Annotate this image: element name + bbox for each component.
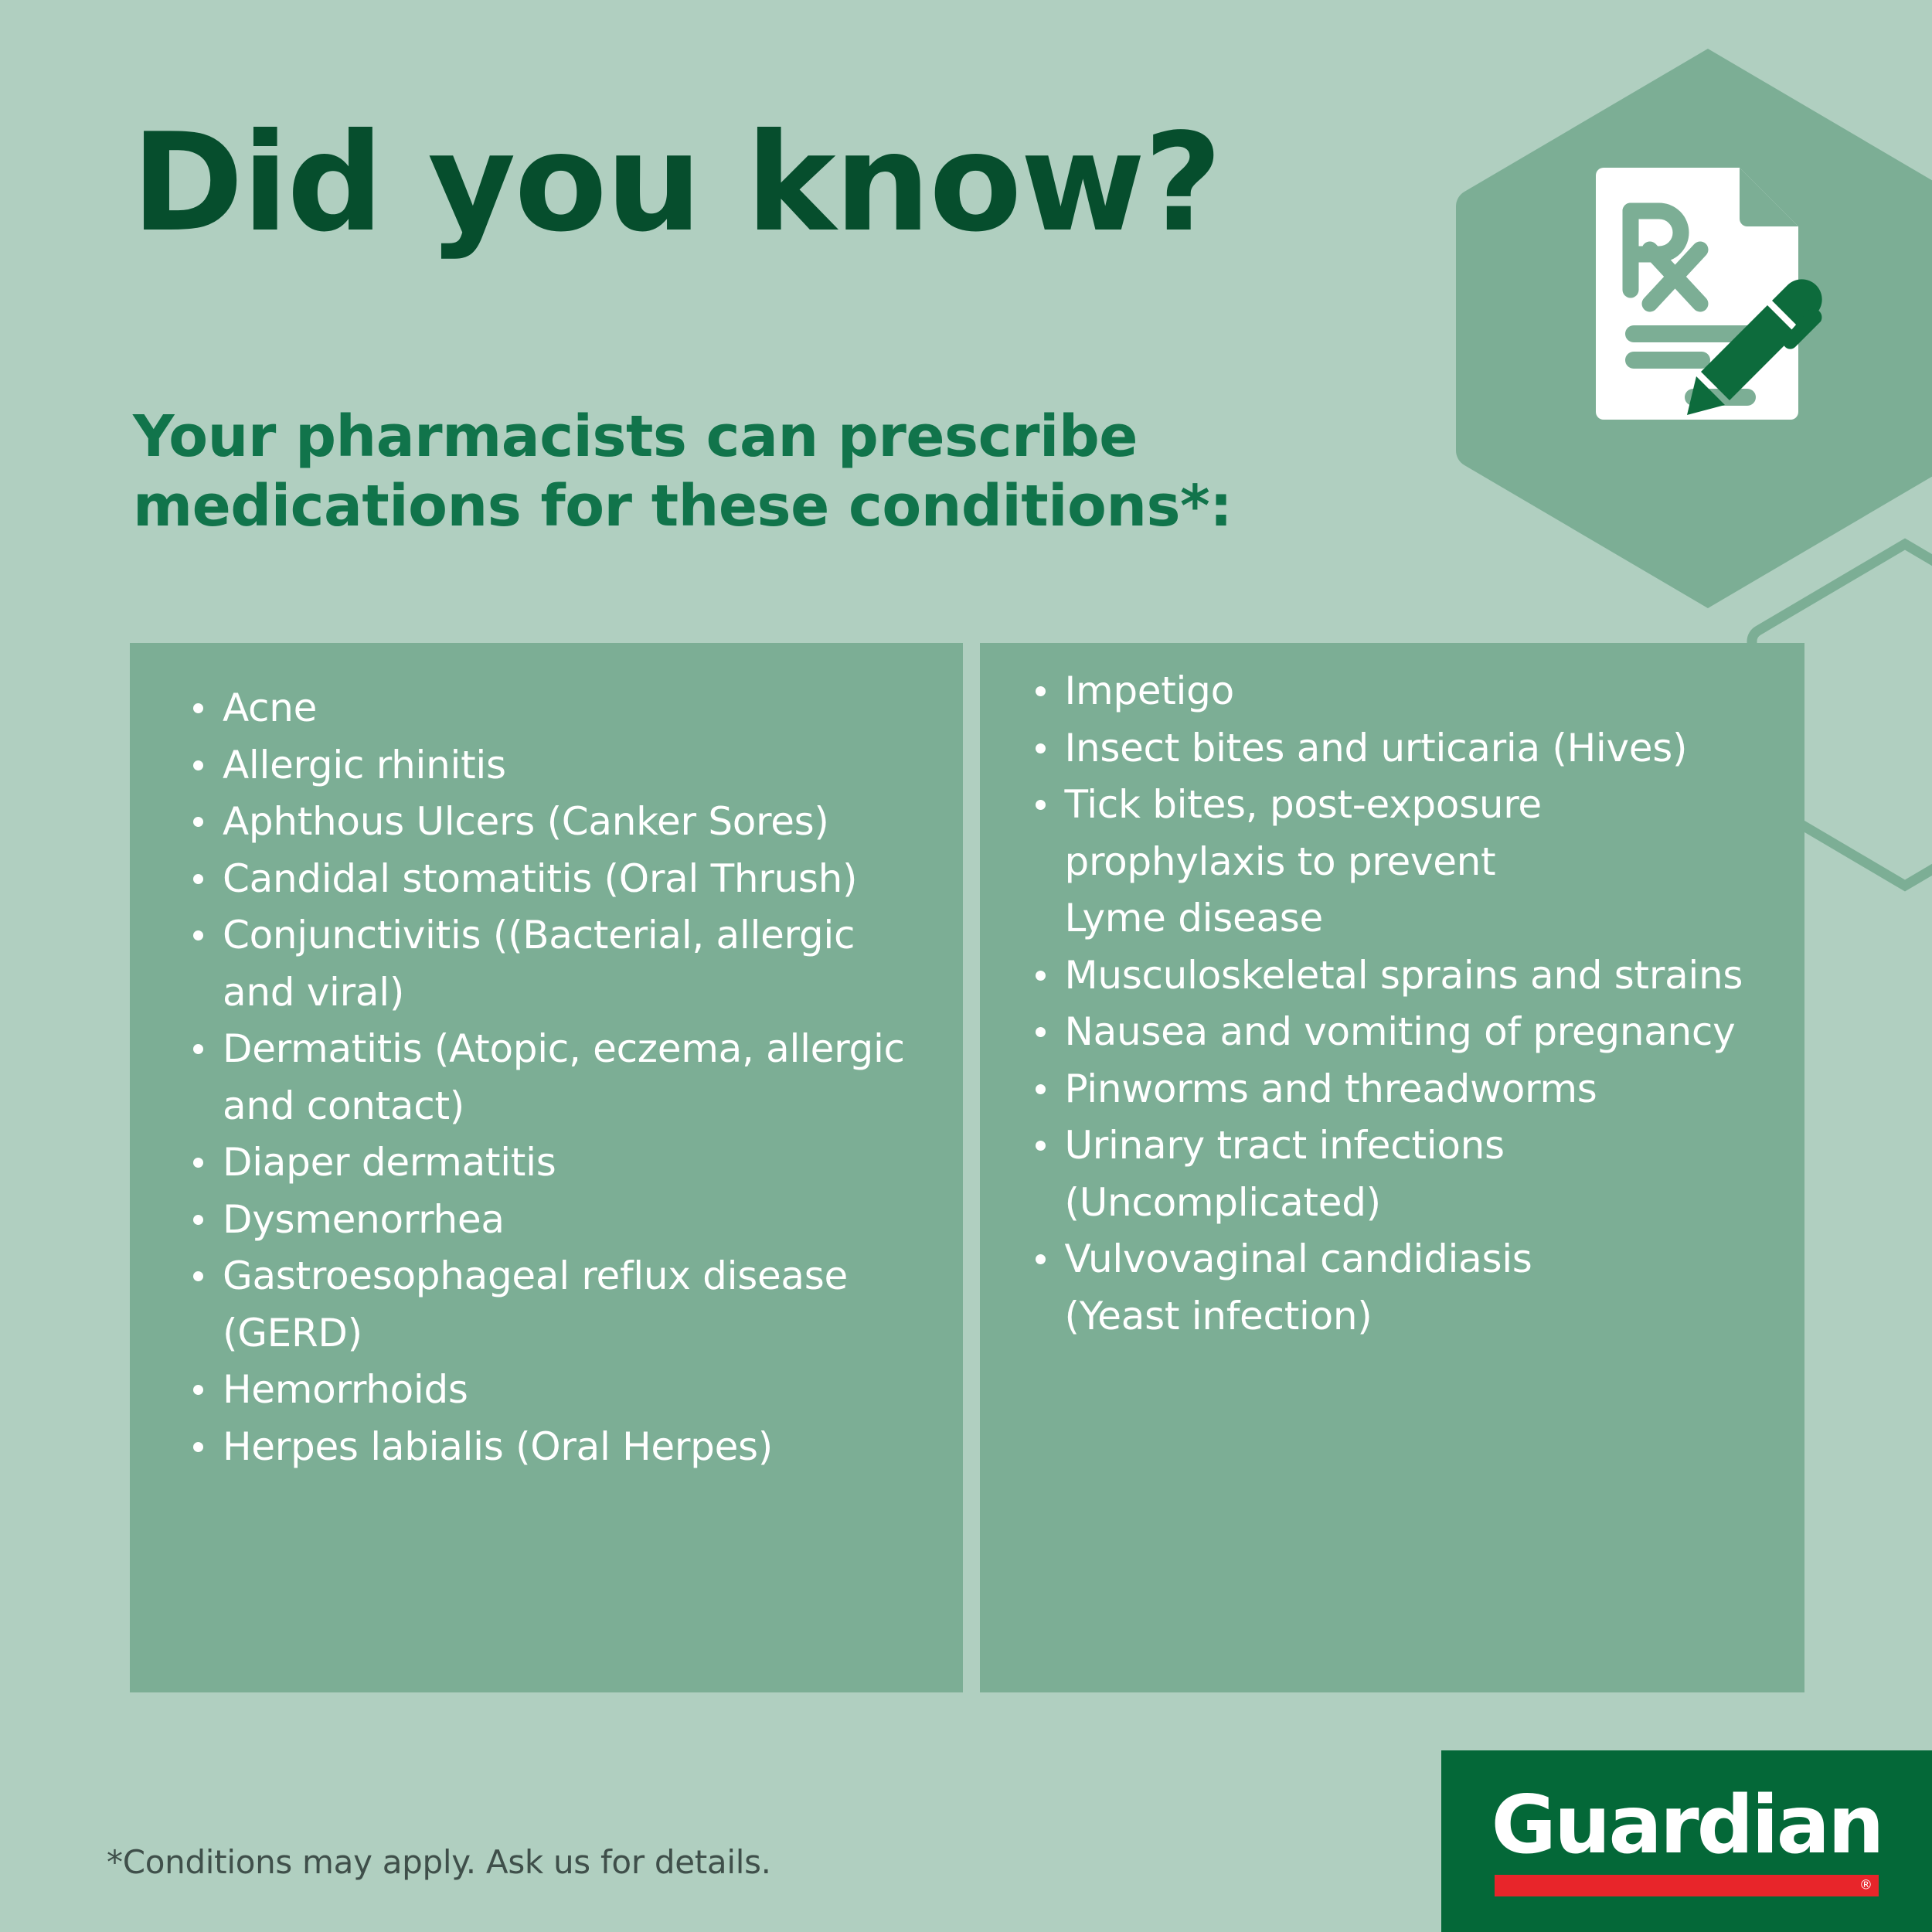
conditions-panel-left: Acne Allergic rhinitis Aphthous Ulcers (… [130, 643, 963, 1692]
list-item: Candidal stomatitis (Oral Thrush) [190, 851, 932, 908]
list-item: Pinworms and threadworms [1032, 1061, 1774, 1118]
list-item: Herpes labialis (Oral Herpes) [190, 1419, 932, 1476]
list-item: Tick bites, post-exposure prophylaxis to… [1032, 777, 1774, 947]
conditions-list-right: Impetigo Insect bites and urticaria (Hiv… [1032, 663, 1774, 1345]
conditions-area: Acne Allergic rhinitis Aphthous Ulcers (… [130, 643, 1804, 1692]
list-item: Allergic rhinitis [190, 737, 932, 794]
list-item: Acne [190, 680, 932, 737]
list-item: Impetigo [1032, 663, 1774, 720]
list-item: Insect bites and urticaria (Hives) [1032, 720, 1774, 777]
page-title: Did you know? [131, 116, 1221, 251]
footnote-text: *Conditions may apply. Ask us for detail… [107, 1843, 771, 1881]
registered-trademark-icon: ® [1859, 1879, 1872, 1893]
conditions-panel-right: Impetigo Insect bites and urticaria (Hiv… [980, 643, 1805, 1692]
guardian-logo: Guardian ® [1441, 1750, 1932, 1932]
list-item: Dysmenorrhea [190, 1192, 932, 1249]
brand-red-rule: ® [1495, 1875, 1879, 1896]
list-item: Hemorrhoids [190, 1362, 932, 1419]
list-item: Vulvovaginal candidiasis (Yeast infectio… [1032, 1231, 1774, 1345]
prescription-document-with-pen-icon [1588, 166, 1828, 460]
list-item: Nausea and vomiting of pregnancy [1032, 1004, 1774, 1061]
list-item: Musculoskeletal sprains and strains [1032, 947, 1774, 1005]
list-item: Conjunctivitis ((Bacterial, allergic and… [190, 907, 932, 1021]
conditions-list-left: Acne Allergic rhinitis Aphthous Ulcers (… [190, 680, 932, 1475]
list-item: Aphthous Ulcers (Canker Sores) [190, 794, 932, 851]
list-item: Gastroesophageal reflux disease (GERD) [190, 1248, 932, 1362]
list-item: Urinary tract infections (Uncomplicated) [1032, 1117, 1774, 1231]
list-item: Dermatitis (Atopic, eczema, allergic and… [190, 1021, 932, 1134]
list-item: Diaper dermatitis [190, 1134, 932, 1192]
page-subtitle: Your pharmacists can prescribe medicatio… [133, 402, 1232, 542]
brand-wordmark: Guardian [1491, 1786, 1882, 1866]
